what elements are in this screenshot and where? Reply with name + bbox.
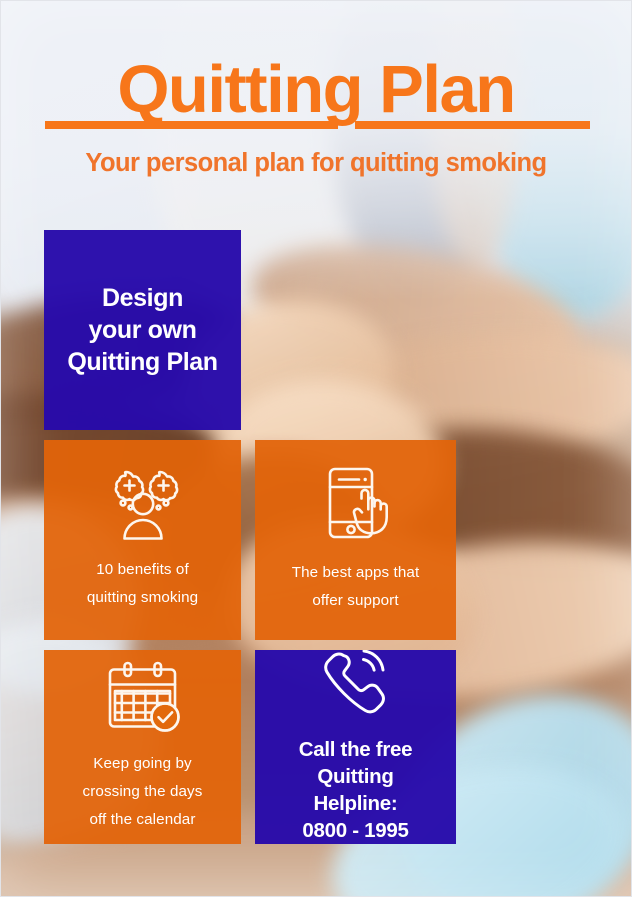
calendar-card[interactable]: Keep going by crossing the days off the …: [44, 650, 241, 844]
helpline-line-2: Quitting: [299, 763, 412, 790]
title-underline: [45, 121, 590, 129]
title-underline-right: [355, 121, 590, 129]
helpline-line-1: Call the free: [299, 736, 412, 763]
smartphone-tap-hand-icon: [317, 465, 395, 545]
helpline-phone-number: 0800 - 1995: [299, 817, 412, 844]
benefits-card[interactable]: 10 benefits of quitting smoking: [44, 440, 241, 640]
hero-line-1: Design: [67, 282, 217, 314]
benefits-line-2: quitting smoking: [87, 584, 198, 612]
card-grid: Design your own Quitting Plan: [44, 230, 456, 844]
calendar-line-2: crossing the days: [83, 778, 203, 806]
benefits-line-1: 10 benefits of: [87, 556, 198, 584]
helpline-line-3: Helpline:: [299, 790, 412, 817]
helpline-card[interactable]: Call the free Quitting Helpline: 0800 - …: [255, 650, 456, 844]
person-with-plus-thought-bubbles-icon: [104, 468, 182, 542]
quitting-plan-poster: Quitting Plan Your personal plan for qui…: [0, 0, 632, 897]
poster-header: Quitting Plan Your personal plan for qui…: [0, 0, 632, 178]
hero-line-3: Quitting Plan: [67, 346, 217, 378]
apps-line-1: The best apps that: [292, 559, 420, 587]
calendar-line-1: Keep going by: [83, 750, 203, 778]
phone-ringing-icon: [320, 650, 392, 718]
apps-line-2: offer support: [292, 587, 420, 615]
hero-line-2: your own: [67, 314, 217, 346]
calendar-line-3: off the calendar: [83, 806, 203, 834]
calendar-check-icon: [102, 660, 184, 736]
title-underline-left: [45, 121, 338, 129]
design-your-own-plan-card[interactable]: Design your own Quitting Plan: [44, 230, 241, 430]
page-title: Quitting Plan: [0, 55, 632, 125]
apps-card[interactable]: The best apps that offer support: [255, 440, 456, 640]
page-subtitle: Your personal plan for quitting smoking: [0, 148, 632, 178]
